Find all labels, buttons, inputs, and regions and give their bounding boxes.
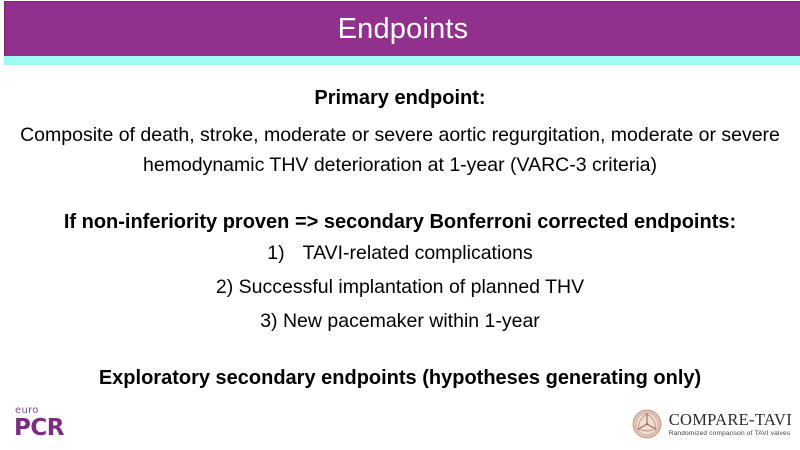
accent-strip xyxy=(4,56,800,65)
compare-tavi-logo: COMPARE-TAVI Randomized comparison of TA… xyxy=(632,404,792,444)
list-item-number: 1) xyxy=(267,242,284,264)
compare-tavi-subtitle: Randomized comparison of TAVI valves xyxy=(669,430,792,437)
europcr-logo: euro PCR xyxy=(14,406,76,442)
list-item: 2) Successful implantation of planned TH… xyxy=(0,270,800,304)
heart-valve-icon xyxy=(632,409,662,439)
list-item: 1)TAVI-related complications xyxy=(0,236,800,270)
compare-tavi-text: COMPARE-TAVI Randomized comparison of TA… xyxy=(669,411,792,438)
list-item-number: 3) xyxy=(260,310,277,332)
slide-body: Primary endpoint: Composite of death, st… xyxy=(0,68,800,392)
primary-endpoint-heading: Primary endpoint: xyxy=(0,84,800,112)
primary-endpoint-text: Composite of death, stroke, moderate or … xyxy=(0,120,800,180)
list-item-label: TAVI-related complications xyxy=(303,242,533,264)
slide: Endpoints Primary endpoint: Composite of… xyxy=(0,0,800,450)
page-title: Endpoints xyxy=(338,15,469,44)
europcr-pcr-text: PCR xyxy=(14,417,76,440)
compare-tavi-title: COMPARE-TAVI xyxy=(669,411,792,428)
list-item-label: Successful implantation of planned THV xyxy=(239,276,584,298)
secondary-endpoints-heading: If non-inferiority proven => secondary B… xyxy=(0,208,800,236)
list-item: 3) New pacemaker within 1-year xyxy=(0,304,800,338)
exploratory-endpoints-heading: Exploratory secondary endpoints (hypothe… xyxy=(0,364,800,392)
list-item-number: 2) xyxy=(216,276,233,298)
list-item-label: New pacemaker within 1-year xyxy=(283,310,540,332)
slide-title-banner: Endpoints xyxy=(4,1,800,56)
